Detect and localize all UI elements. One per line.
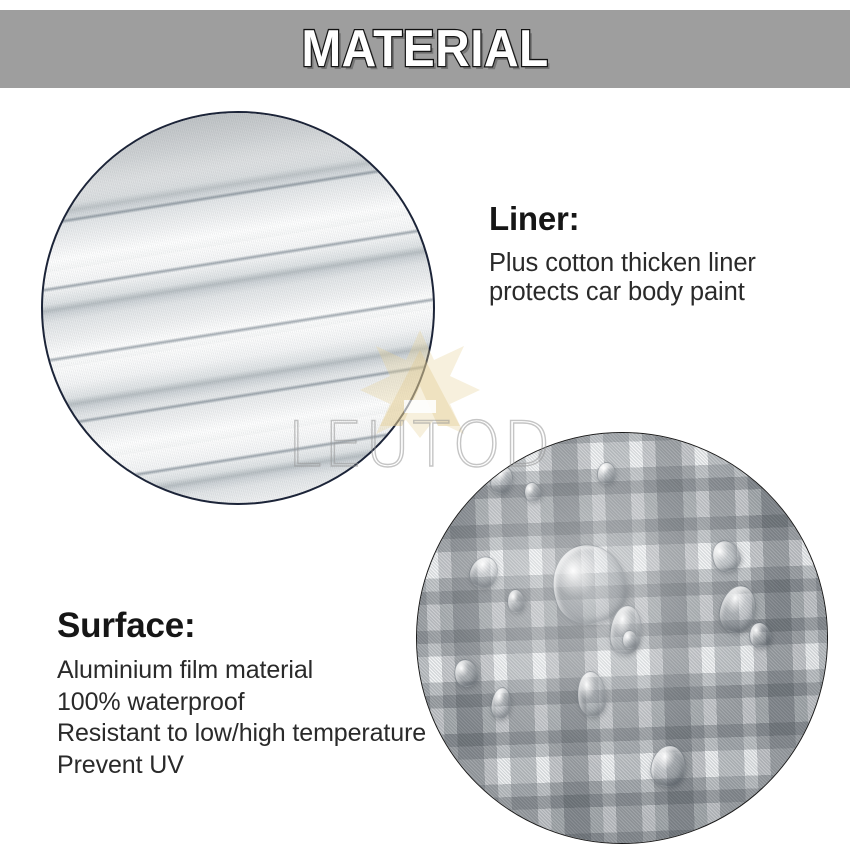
liner-photo-circle <box>41 111 435 505</box>
material-infographic: MATERIAL <box>0 0 850 850</box>
surface-description-line: 100% waterproof <box>57 687 477 719</box>
surface-heading: Surface: <box>57 608 477 643</box>
page-title: MATERIAL <box>34 10 816 88</box>
liner-text-block: Liner: Plus cotton thicken liner protect… <box>489 202 819 307</box>
surface-text-block: Surface: Aluminium film material 100% wa… <box>57 608 477 781</box>
surface-photo-circle <box>416 432 828 844</box>
surface-description-line: Aluminium film material <box>57 655 477 687</box>
liner-description-line: protects car body paint <box>489 278 819 307</box>
liner-heading: Liner: <box>489 202 819 235</box>
surface-vignette <box>417 433 827 843</box>
surface-description-line: Resistant to low/high temperature <box>57 718 477 750</box>
surface-description-line: Prevent UV <box>57 750 477 782</box>
liner-description-line: Plus cotton thicken liner <box>489 249 819 278</box>
liner-fabric-grain <box>43 113 433 503</box>
